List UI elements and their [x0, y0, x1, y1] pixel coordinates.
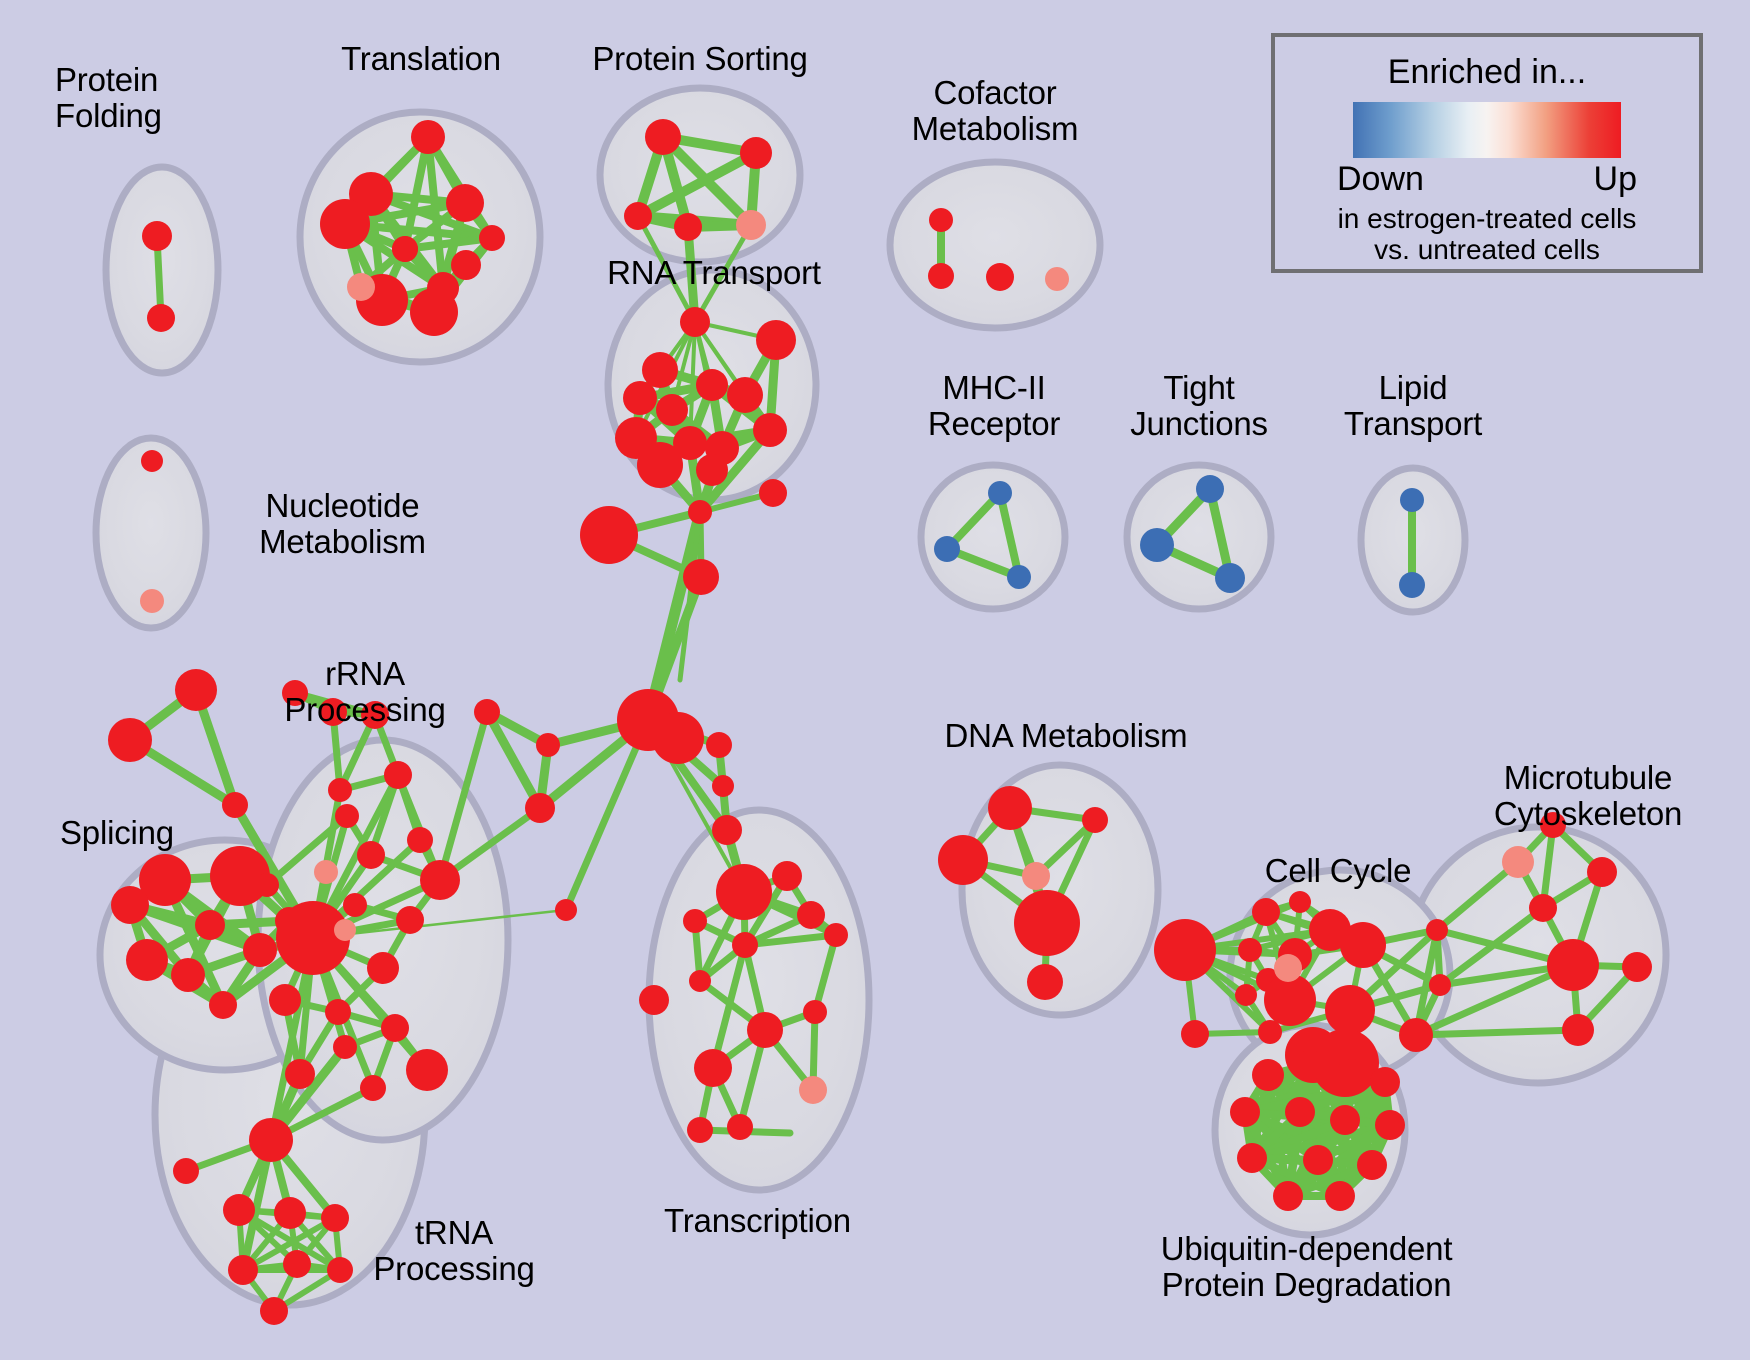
node-up — [555, 899, 577, 921]
node-up — [381, 1014, 409, 1042]
node-up — [639, 985, 669, 1015]
node-up — [696, 369, 728, 401]
node-up — [1027, 964, 1063, 1000]
node-up — [392, 236, 418, 262]
node-up — [1429, 974, 1451, 996]
node-up — [1325, 985, 1375, 1035]
node-up — [683, 909, 707, 933]
node-up — [335, 804, 359, 828]
node-down — [1007, 565, 1031, 589]
node-up — [580, 506, 638, 564]
node-up — [283, 1250, 311, 1278]
node-up — [1399, 1018, 1433, 1052]
node-up — [1622, 952, 1652, 982]
cluster-label-trna-processing: tRNA Processing — [344, 1215, 564, 1286]
node-up — [1562, 1014, 1594, 1046]
node-up — [712, 815, 742, 845]
node-up — [328, 778, 352, 802]
node-up — [1154, 919, 1216, 981]
cluster-label-transcription: Transcription — [625, 1203, 890, 1239]
node-up-mid — [334, 919, 356, 941]
node-up — [410, 288, 458, 336]
node-down — [1215, 563, 1245, 593]
node-up — [696, 454, 728, 486]
node-up-mid — [1045, 267, 1069, 291]
node-up — [637, 442, 683, 488]
node-up — [285, 1059, 315, 1089]
cluster-label-mhc-ii-receptor: MHC-II Receptor — [894, 370, 1094, 441]
node-up-mid — [1022, 862, 1050, 890]
node-up — [1295, 1050, 1325, 1080]
node-up — [360, 1075, 386, 1101]
node-up — [147, 304, 175, 332]
node-up — [274, 1197, 306, 1229]
node-up — [986, 263, 1014, 291]
node-up — [451, 250, 481, 280]
node-down — [1196, 475, 1224, 503]
cluster-label-dna-metabolism: DNA Metabolism — [916, 718, 1216, 754]
node-up — [706, 732, 732, 758]
node-up — [536, 733, 560, 757]
node-up — [171, 958, 205, 992]
node-up — [929, 208, 953, 232]
node-up-mid — [736, 210, 766, 240]
cluster-label-splicing: Splicing — [60, 815, 210, 851]
node-up — [732, 932, 758, 958]
node-up — [1330, 1105, 1360, 1135]
cluster-label-tight-junctions: Tight Junctions — [1099, 370, 1299, 441]
node-up — [689, 970, 711, 992]
node-up — [1082, 807, 1108, 833]
cluster-label-microtubule: Microtubule Cytoskeleton — [1443, 760, 1733, 831]
node-up — [222, 792, 248, 818]
node-up — [1370, 1067, 1400, 1097]
node-up — [1235, 984, 1257, 1006]
node-up — [175, 669, 217, 711]
node-up — [727, 377, 763, 413]
node-up-mid — [799, 1076, 827, 1104]
node-up — [320, 199, 370, 249]
node-up — [1238, 938, 1262, 962]
node-up — [694, 1049, 732, 1087]
node-up — [142, 221, 172, 251]
node-up-mid — [314, 860, 338, 884]
node-up — [642, 352, 678, 388]
node-up — [407, 827, 433, 853]
node-up — [195, 910, 225, 940]
cluster-label-ubiquitin: Ubiquitin-dependent Protein Degradation — [1114, 1231, 1499, 1302]
legend-high-label: Up — [1594, 160, 1637, 199]
node-up — [525, 793, 555, 823]
node-up — [1303, 1145, 1333, 1175]
node-up — [716, 864, 772, 920]
node-up — [688, 500, 712, 524]
node-up — [420, 860, 460, 900]
node-up — [1289, 891, 1311, 913]
node-up — [255, 873, 279, 897]
node-up — [727, 1114, 753, 1140]
cluster-label-rrna-processing: rRNA Processing — [255, 656, 475, 727]
halo-cofactor-metabolism — [890, 162, 1100, 328]
node-down — [988, 481, 1012, 505]
node-up — [1285, 1097, 1315, 1127]
node-up — [652, 712, 704, 764]
node-up — [384, 761, 412, 789]
node-up — [446, 184, 484, 222]
node-down — [1140, 528, 1174, 562]
legend-title: Enriched in... — [1388, 53, 1586, 92]
node-up — [624, 202, 652, 230]
node-up — [1547, 939, 1599, 991]
node-up — [1252, 1059, 1284, 1091]
node-up — [1014, 890, 1080, 956]
node-up — [479, 225, 505, 251]
node-up — [1336, 1059, 1368, 1091]
cluster-label-cell-cycle: Cell Cycle — [1228, 853, 1448, 889]
node-up — [1252, 898, 1280, 926]
node-up — [367, 952, 399, 984]
cluster-label-nucleotide-metabolism: Nucleotide Metabolism — [225, 488, 460, 559]
node-up — [396, 906, 424, 934]
node-up — [683, 559, 719, 595]
node-up — [269, 984, 301, 1016]
node-up — [1375, 1110, 1405, 1140]
node-up — [680, 307, 710, 337]
node-up — [772, 861, 802, 891]
legend-caption: in estrogen-treated cells vs. untreated … — [1338, 203, 1637, 266]
node-up — [474, 699, 500, 725]
node-up — [623, 381, 657, 415]
node-up — [1237, 1143, 1267, 1173]
node-up — [108, 718, 152, 762]
node-up — [406, 1049, 448, 1091]
node-down — [934, 536, 960, 562]
node-up — [260, 1297, 288, 1325]
node-up — [228, 1255, 258, 1285]
node-up — [249, 1118, 293, 1162]
node-up — [1529, 894, 1557, 922]
node-up — [938, 835, 988, 885]
node-up-mid — [347, 273, 375, 301]
node-up — [759, 479, 787, 507]
node-up — [824, 923, 848, 947]
cluster-label-lipid-transport: Lipid Transport — [1313, 370, 1513, 441]
node-up — [343, 893, 367, 917]
cluster-label-rna-transport: RNA Transport — [574, 255, 854, 291]
node-up — [1357, 1150, 1387, 1180]
node-up — [209, 991, 237, 1019]
node-up — [928, 263, 954, 289]
legend-color-gradient — [1353, 102, 1621, 158]
node-up — [1587, 857, 1617, 887]
node-up — [988, 786, 1032, 830]
node-up — [687, 1117, 713, 1143]
cluster-label-protein-folding: Protein Folding — [55, 62, 215, 133]
node-up — [740, 137, 772, 169]
node-up — [1426, 919, 1448, 941]
legend-panel: Enriched in... Down Up in estrogen-treat… — [1271, 33, 1703, 273]
node-up-mid — [140, 589, 164, 613]
legend-low-label: Down — [1337, 160, 1424, 199]
node-up — [1273, 1181, 1303, 1211]
cluster-label-cofactor-metabolism: Cofactor Metabolism — [875, 75, 1115, 146]
node-up — [753, 413, 787, 447]
node-up — [333, 1035, 357, 1059]
node-up — [357, 841, 385, 869]
cluster-label-protein-sorting: Protein Sorting — [560, 41, 840, 77]
node-up — [803, 1000, 827, 1024]
node-up — [1258, 1020, 1282, 1044]
node-up — [1230, 1097, 1260, 1127]
node-up — [747, 1012, 783, 1048]
node-up — [173, 1158, 199, 1184]
node-up-mid — [1274, 954, 1302, 982]
node-up — [141, 450, 163, 472]
node-up — [756, 320, 796, 360]
legend-caption-line2: vs. untreated cells — [1338, 234, 1637, 265]
node-up — [411, 120, 445, 154]
node-up — [243, 933, 277, 967]
node-up-mid — [1502, 846, 1534, 878]
node-up — [111, 886, 149, 924]
node-up — [1340, 922, 1386, 968]
node-up — [797, 901, 825, 929]
node-up — [325, 999, 351, 1025]
node-up — [712, 775, 734, 797]
node-down — [1399, 572, 1425, 598]
node-up — [645, 119, 681, 155]
node-up — [1325, 1181, 1355, 1211]
enrichment-network-figure: Protein Folding Translation Protein Sort… — [0, 0, 1750, 1360]
node-down — [1400, 488, 1424, 512]
node-up — [126, 939, 168, 981]
node-up — [656, 394, 688, 426]
legend-caption-line1: in estrogen-treated cells — [1338, 203, 1637, 234]
node-up — [674, 213, 702, 241]
node-up — [1181, 1020, 1209, 1048]
node-up — [223, 1194, 255, 1226]
cluster-label-translation: Translation — [281, 41, 561, 77]
